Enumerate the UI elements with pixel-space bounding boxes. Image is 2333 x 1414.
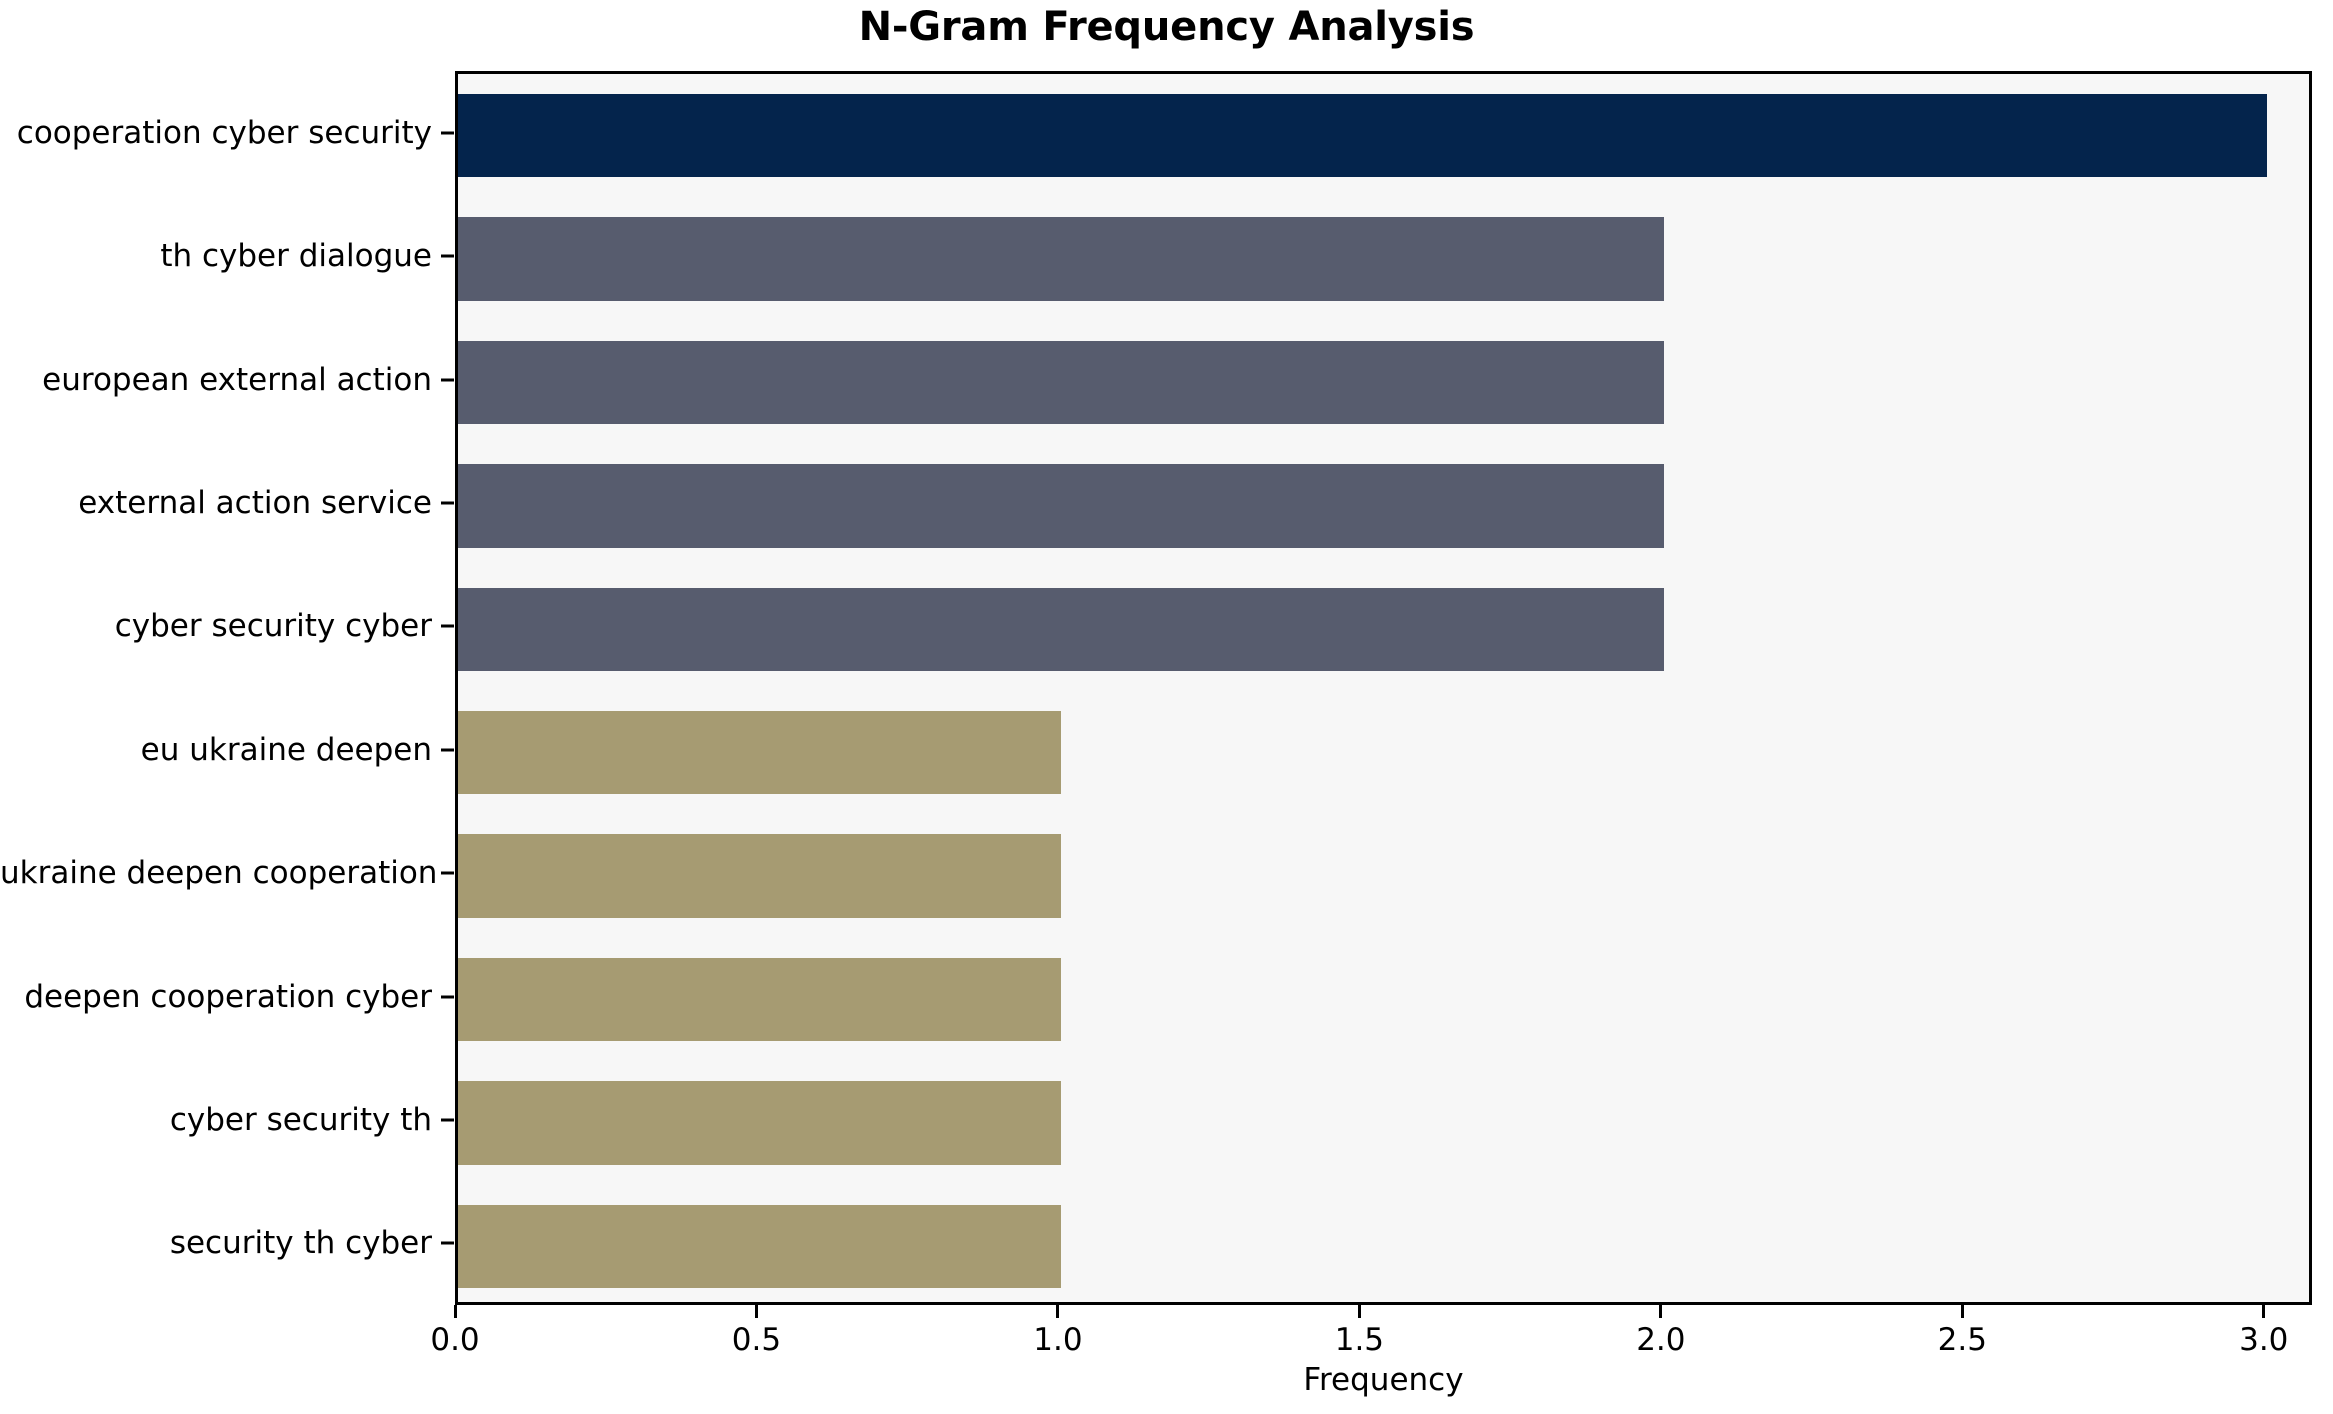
bar — [458, 1205, 1061, 1288]
y-axis-tick-label: cyber security th — [0, 1102, 432, 1138]
y-axis-tick-label: cooperation cyber security — [0, 115, 432, 151]
x-axis-tick-label: 2.5 — [1938, 1322, 1987, 1358]
y-axis-tick-label: eu ukraine deepen — [0, 732, 432, 768]
bar — [458, 834, 1061, 917]
y-axis-tick-label: ukraine deepen cooperation — [0, 855, 432, 891]
x-axis-tick-label: 1.5 — [1335, 1322, 1384, 1358]
x-axis-tick-mark — [1659, 1305, 1662, 1318]
bar — [458, 217, 1664, 300]
plot-area — [455, 71, 2312, 1305]
x-axis-tick-label: 2.0 — [1636, 1322, 1685, 1358]
y-axis-tick-label: cyber security cyber — [0, 608, 432, 644]
x-axis-tick-mark — [454, 1305, 457, 1318]
page-title: N-Gram Frequency Analysis — [0, 4, 2333, 50]
y-axis-tick-label: security th cyber — [0, 1225, 432, 1261]
y-axis-tick-mark — [441, 1118, 454, 1121]
x-axis-tick-label: 0.0 — [430, 1322, 479, 1358]
y-axis-tick-label: th cyber dialogue — [0, 238, 432, 274]
y-axis-tick-label: external action service — [0, 485, 432, 521]
x-axis-tick-label: 3.0 — [2239, 1322, 2288, 1358]
x-axis-tick-mark — [2262, 1305, 2265, 1318]
y-axis-tick-mark — [441, 131, 454, 134]
bars-container — [458, 74, 2309, 1302]
y-axis-tick-mark — [441, 872, 454, 875]
bar — [458, 94, 2267, 177]
y-axis-tick-label: deepen cooperation cyber — [0, 979, 432, 1015]
bar — [458, 958, 1061, 1041]
bar — [458, 588, 1664, 671]
y-axis-tick-label: european external action — [0, 362, 432, 398]
x-axis-tick-mark — [1358, 1305, 1361, 1318]
bar — [458, 341, 1664, 424]
x-axis-tick-mark — [1056, 1305, 1059, 1318]
x-axis-tick-mark — [755, 1305, 758, 1318]
bar — [458, 1081, 1061, 1164]
y-axis-tick-mark — [441, 625, 454, 628]
x-axis-tick-mark — [1961, 1305, 1964, 1318]
y-axis-tick-mark — [441, 1242, 454, 1245]
x-axis-title: Frequency — [455, 1362, 2312, 1398]
y-axis-tick-mark — [441, 995, 454, 998]
bar — [458, 464, 1664, 547]
bar — [458, 711, 1061, 794]
y-axis-tick-mark — [441, 501, 454, 504]
y-axis-tick-mark — [441, 378, 454, 381]
x-axis-tick-label: 1.0 — [1033, 1322, 1082, 1358]
x-axis-tick-label: 0.5 — [732, 1322, 781, 1358]
y-axis-tick-mark — [441, 748, 454, 751]
y-axis-tick-mark — [441, 255, 454, 258]
